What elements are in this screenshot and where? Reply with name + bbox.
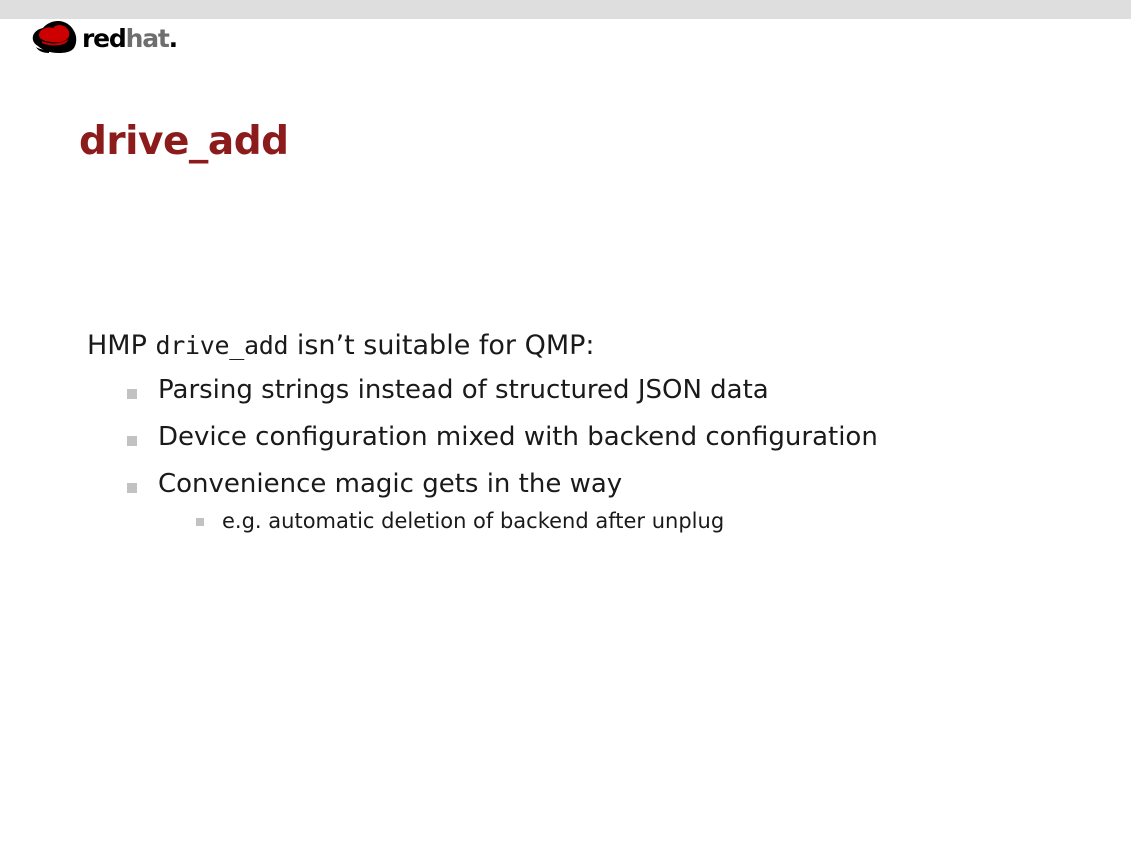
wordmark-red: red	[82, 24, 126, 53]
sub-list-item: e.g. automatic deletion of backend after…	[196, 509, 1131, 533]
page-title: drive_add	[79, 119, 289, 164]
redhat-wordmark: redhat.	[82, 26, 177, 51]
list-item-label: Parsing strings instead of structured JS…	[158, 375, 769, 405]
list-item: Parsing strings instead of structured JS…	[127, 376, 1131, 406]
list-item-label: Device configuration mixed with backend …	[158, 422, 878, 452]
redhat-logo: redhat.	[30, 16, 177, 54]
list-item-label: Convenience magic gets in the way	[158, 469, 622, 499]
redhat-shadowman-icon	[30, 20, 80, 54]
intro-after-code: isn’t suitable for QMP:	[288, 330, 594, 361]
intro-before-code: HMP	[87, 330, 155, 361]
intro-statement: HMP drive_add isn’t suitable for QMP:	[87, 332, 1131, 359]
slide-body: HMP drive_add isn’t suitable for QMP: Pa…	[0, 332, 1131, 550]
sub-list-item-label: e.g. automatic deletion of backend after…	[222, 509, 724, 533]
square-bullet-icon	[127, 483, 137, 493]
wordmark-hat: hat	[126, 24, 169, 53]
list-item: Device configuration mixed with backend …	[127, 423, 1131, 453]
wordmark-dot: .	[169, 24, 177, 53]
slide-canvas: redhat. drive_add HMP drive_add isn’t su…	[0, 0, 1131, 848]
bullet-list-level2: e.g. automatic deletion of backend after…	[158, 509, 1131, 533]
inline-code-drive-add: drive_add	[155, 331, 288, 360]
bullet-list-level1: Parsing strings instead of structured JS…	[0, 376, 1131, 533]
square-bullet-icon	[127, 389, 137, 399]
square-subbullet-icon	[196, 518, 204, 526]
square-bullet-icon	[127, 436, 137, 446]
list-item: Convenience magic gets in the way e.g. a…	[127, 470, 1131, 533]
